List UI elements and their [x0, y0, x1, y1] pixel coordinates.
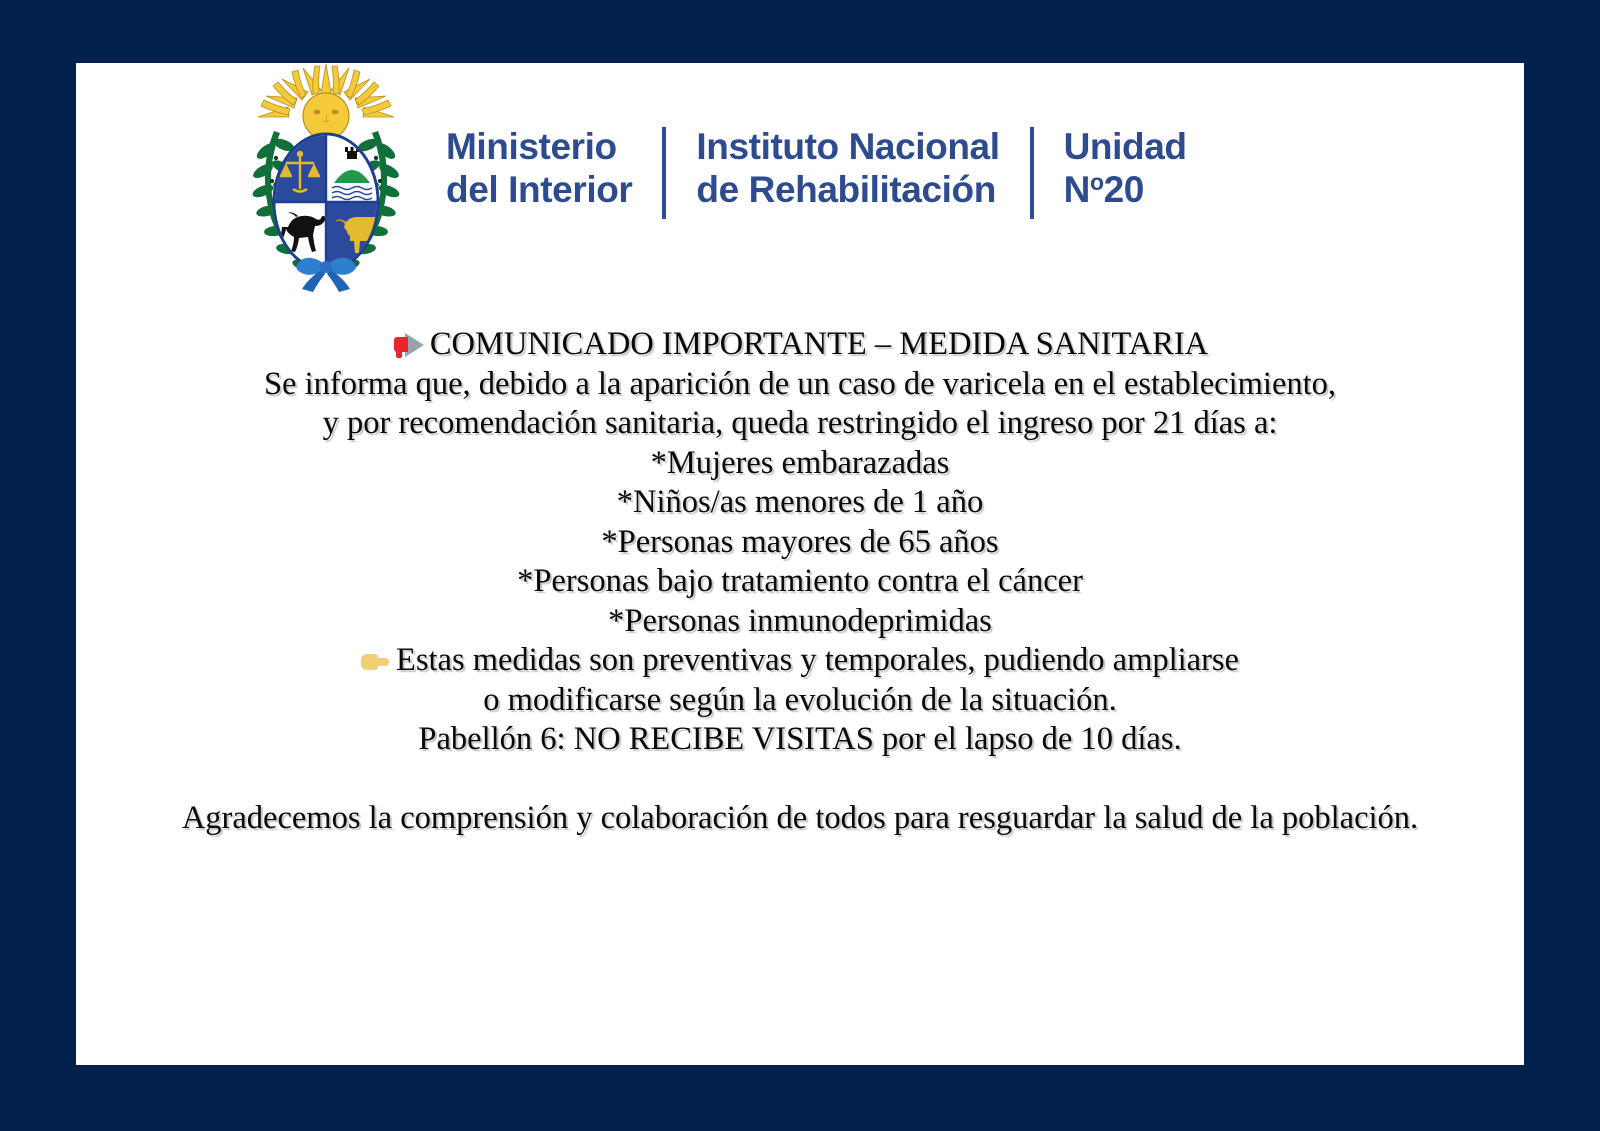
restricted-group-2: *Niños/as menores de 1 año	[76, 483, 1524, 523]
brand-instituto: Instituto Nacional de Rehabilitación	[696, 125, 999, 212]
restricted-group-5: *Personas inmunodeprimidas	[76, 602, 1524, 642]
notice-gap	[76, 760, 1524, 799]
measures-line-1: Estas medidas son preventivas y temporal…	[76, 641, 1524, 681]
megaphone-icon	[392, 332, 426, 358]
notice-closing: Agradecemos la comprensión y colaboració…	[76, 799, 1524, 839]
brand-unidad-ordinal: o	[1090, 169, 1104, 195]
brand-unidad-n: N	[1064, 169, 1090, 210]
restricted-group-3: *Personas mayores de 65 años	[76, 523, 1524, 563]
notice-intro-line-1: Se informa que, debido a la aparición de…	[76, 365, 1524, 405]
ribbon	[296, 258, 355, 292]
notice-title-line: COMUNICADO IMPORTANTE – MEDIDA SANITARIA	[76, 325, 1524, 365]
brand-ministerio-line2: del Interior	[446, 168, 632, 211]
restricted-group-4: *Personas bajo tratamiento contra el cán…	[76, 562, 1524, 602]
brand-divider-2	[1030, 127, 1034, 219]
brand-instituto-line2: de Rehabilitación	[696, 168, 999, 211]
brand-instituto-line1: Instituto Nacional	[696, 126, 999, 167]
brand-ministerio: Ministerio del Interior	[446, 125, 632, 212]
measures-text-1: Estas medidas son preventivas y temporal…	[396, 642, 1239, 678]
measures-line-3: Pabellón 6: NO RECIBE VISITAS por el lap…	[76, 720, 1524, 760]
brand-lockup: Ministerio del Interior Instituto Nacion…	[446, 125, 1187, 225]
brand-unidad-line1: Unidad	[1064, 126, 1187, 167]
coat-of-arms-of-uruguay-icon	[236, 63, 416, 309]
brand-divider-1	[662, 127, 666, 219]
notice-title: COMUNICADO IMPORTANTE – MEDIDA SANITARIA	[430, 326, 1208, 362]
pointing-right-hand-icon	[361, 651, 391, 673]
institutional-header: Ministerio del Interior Instituto Nacion…	[76, 63, 1524, 321]
brand-ministerio-line1: Ministerio	[446, 126, 617, 167]
notice-intro-line-2: y por recomendación sanitaria, queda res…	[76, 404, 1524, 444]
brand-unidad: Unidad No20	[1064, 125, 1187, 212]
brand-unidad-number: 20	[1104, 169, 1144, 210]
restricted-group-1: *Mujeres embarazadas	[76, 444, 1524, 484]
measures-line-2: o modificarse según la evolución de la s…	[76, 681, 1524, 721]
notice-poster: Ministerio del Interior Instituto Nacion…	[76, 63, 1524, 1065]
brand-unidad-line2: No20	[1064, 168, 1187, 211]
notice-body: COMUNICADO IMPORTANTE – MEDIDA SANITARIA…	[76, 325, 1524, 838]
